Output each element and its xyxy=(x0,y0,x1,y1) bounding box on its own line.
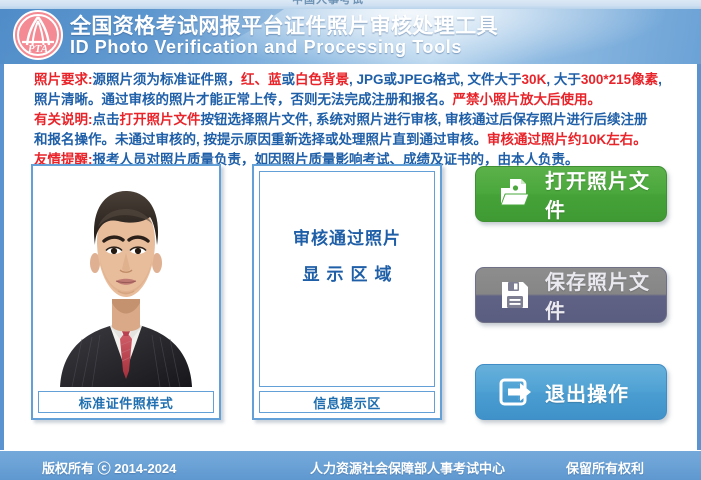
sample-photo-image xyxy=(38,171,214,387)
notice-line-3: 有关说明:点击打开照片文件按钮选择照片文件, 系统对照片进行审核, 审核通过后保… xyxy=(34,110,697,130)
sample-photo-panel: 标准证件照样式 xyxy=(31,164,221,420)
footer-rights: 保留所有权利 xyxy=(566,458,644,477)
cut-off-title-text: 中国人事考试 xyxy=(292,0,364,7)
preview-placeholder-line2: 显示区域 xyxy=(296,260,399,285)
floppy-disk-save-icon xyxy=(498,278,532,312)
notice-line-2: 照片清晰。通过审核的照片才能正常上传，否则无法完成注册和报名。严禁小照片放大后使… xyxy=(34,90,697,110)
application-window: 中国人事考试 PTA 全国资格考试网报平台证件照片审核处理工具 ID Photo… xyxy=(0,0,701,479)
exit-button-label: 退出操作 xyxy=(545,378,629,407)
svg-text:PTA: PTA xyxy=(28,43,48,55)
open-photo-file-button[interactable]: 打开照片文件 xyxy=(475,166,667,222)
sample-photo-caption: 标准证件照样式 xyxy=(38,391,214,413)
open-folder-photo-icon xyxy=(498,177,532,211)
pta-emblem-logo: PTA xyxy=(12,9,64,61)
app-title-english: ID Photo Verification and Processing Too… xyxy=(70,37,462,58)
instructions-block: 照片要求:源照片须为标准证件照，红、蓝或白色背景, JPG或JPEG格式, 文件… xyxy=(4,64,697,156)
info-message-caption: 信息提示区 xyxy=(259,391,435,413)
approved-photo-display-area: 审核通过照片 显示区域 xyxy=(259,171,435,387)
notice-line-4: 和报名操作。未通过审核的, 按提示原因重新选择或处理照片直到通过审核。审核通过照… xyxy=(34,130,697,150)
open-photo-file-label: 打开照片文件 xyxy=(545,166,666,222)
preview-placeholder-line1: 审核通过照片 xyxy=(293,224,401,249)
exit-button[interactable]: 退出操作 xyxy=(475,364,667,420)
save-photo-file-label: 保存照片文件 xyxy=(545,267,666,323)
exit-arrow-icon xyxy=(498,375,532,409)
approved-photo-preview-panel: 审核通过照片 显示区域 信息提示区 xyxy=(252,164,442,420)
footer-copyright: 版权所有 ⓒ 2014-2024 xyxy=(42,458,176,477)
footer-organization: 人力资源社会保障部人事考试中心 xyxy=(310,458,505,477)
window-titlebar-remnant: 中国人事考试 xyxy=(0,0,701,9)
app-footer: 版权所有 ⓒ 2014-2024 人力资源社会保障部人事考试中心 保留所有权利 xyxy=(0,450,701,480)
save-photo-file-button[interactable]: 保存照片文件 xyxy=(475,267,667,323)
notice-line-1: 照片要求:源照片须为标准证件照，红、蓝或白色背景, JPG或JPEG格式, 文件… xyxy=(34,70,697,90)
app-header: 中国人事考试 PTA 全国资格考试网报平台证件照片审核处理工具 ID Photo… xyxy=(0,0,701,64)
app-title-chinese: 全国资格考试网报平台证件照片审核处理工具 xyxy=(70,10,498,40)
